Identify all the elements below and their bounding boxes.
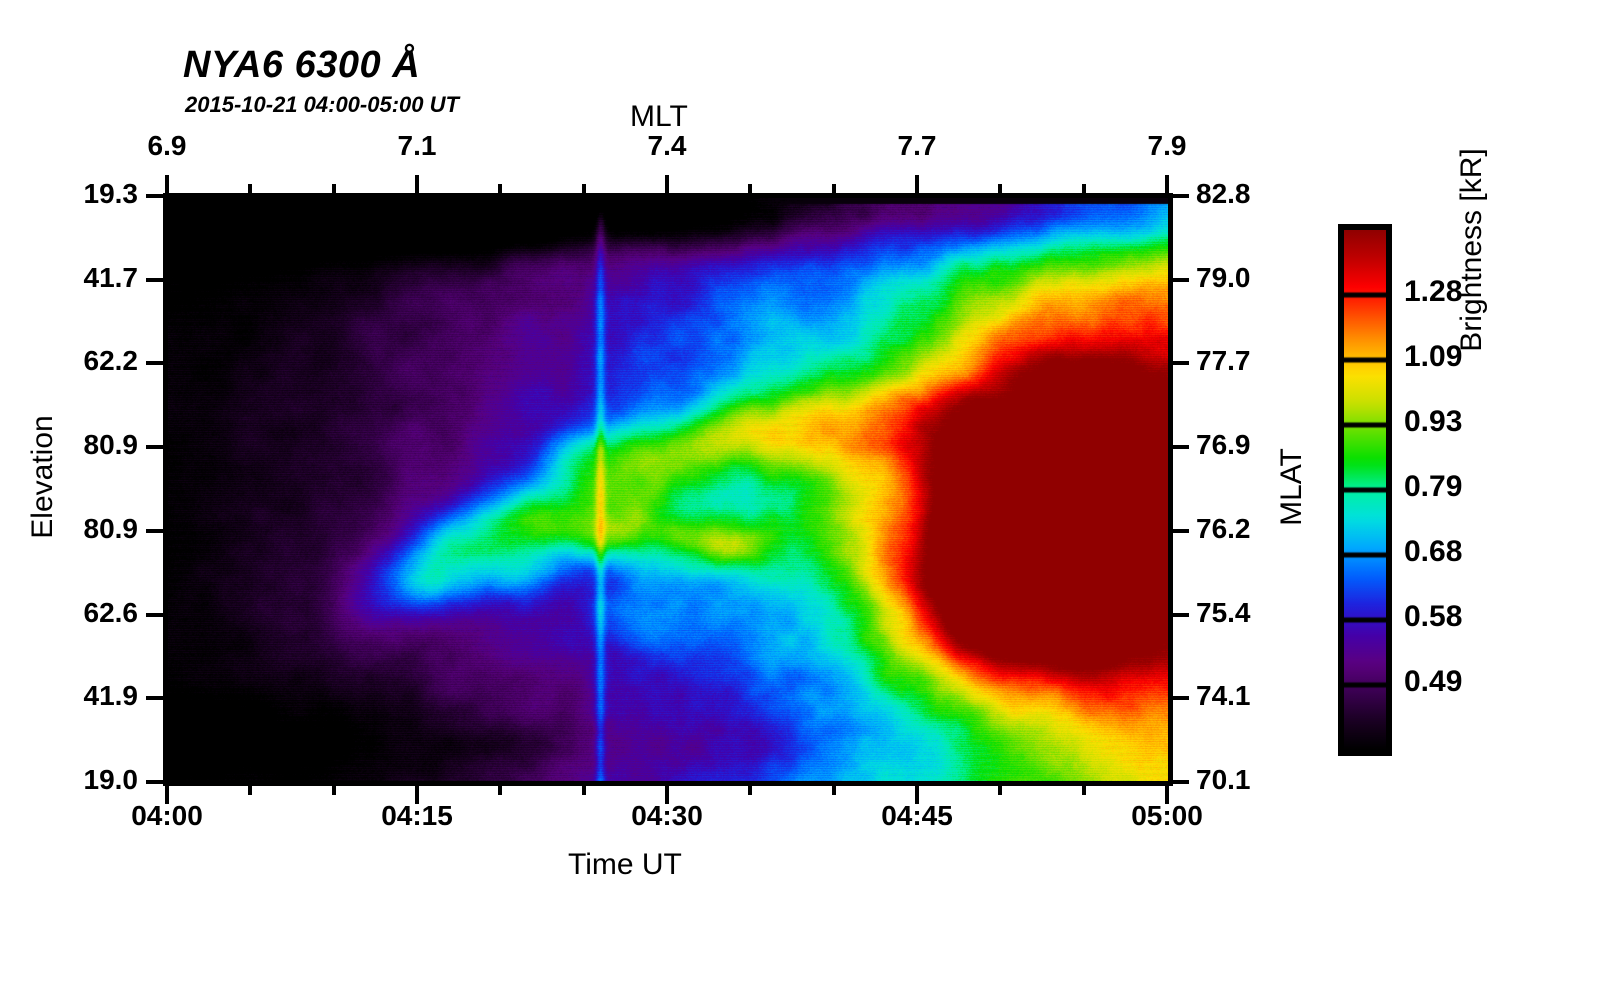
colorbar-ticklabel-4: 0.68 [1404,535,1462,569]
ticklabel-elevation-4: 80.9 [50,513,138,545]
ticklabel-mlat-4: 76.2 [1196,513,1286,545]
tick-top-minor-1-2 [582,184,586,195]
tick-right-5 [1169,613,1189,617]
x-axis-title-bottom: Time UT [568,848,682,882]
tick-bottom-minor-2-1 [748,784,752,795]
tick-left-6 [146,696,166,700]
ticklabel-elevation-1: 41.7 [50,262,138,294]
tick-bottom-minor-0-2 [332,784,336,795]
tick-top-minor-0-2 [332,184,336,195]
tick-left-7 [146,780,166,784]
ticklabel-mlt-1: 7.1 [357,130,477,162]
tick-bottom-minor-2-2 [832,784,836,795]
ticklabel-mlat-1: 79.0 [1196,262,1286,294]
colorbar-gradient [1344,230,1386,750]
tick-bottom-minor-1-2 [582,784,586,795]
ticklabel-mlt-3: 7.7 [857,130,977,162]
tick-top-4 [1165,175,1169,195]
tick-left-4 [146,529,166,533]
ticklabel-time-2: 04:30 [597,800,737,832]
colorbar-title: Brightness [kR] [1455,130,1489,370]
ticklabel-mlat-5: 75.4 [1196,597,1286,629]
tick-top-minor-0-1 [248,184,252,195]
ticklabel-mlat-6: 74.1 [1196,680,1286,712]
tick-top-minor-1-1 [498,184,502,195]
ticklabel-mlt-2: 7.4 [607,130,727,162]
colorbar-ticklabel-1: 1.09 [1404,340,1462,374]
keogram-image [167,196,1168,783]
tick-right-7 [1169,780,1189,784]
ticklabel-elevation-3: 80.9 [50,429,138,461]
tick-top-3 [915,175,919,195]
colorbar-ticklabel-2: 0.93 [1404,405,1462,439]
ticklabel-mlat-2: 77.7 [1196,345,1286,377]
colorbar [1338,224,1392,756]
x-axis-title-top: MLT [630,100,688,134]
tick-top-minor-3-1 [998,184,1002,195]
ticklabel-time-3: 04:45 [847,800,987,832]
y-axis-title-right: MLAT [1275,417,1309,557]
ticklabel-elevation-5: 62.6 [50,597,138,629]
ticklabel-time-0: 04:00 [97,800,237,832]
ticklabel-elevation-7: 19.0 [50,764,138,796]
ticklabel-mlt-0: 6.9 [107,130,227,162]
tick-top-minor-2-2 [832,184,836,195]
tick-right-2 [1169,361,1189,365]
tick-left-2 [146,361,166,365]
tick-left-1 [146,278,166,282]
tick-left-3 [146,445,166,449]
ticklabel-mlat-7: 70.1 [1196,764,1286,796]
tick-bottom-minor-0-1 [248,784,252,795]
keogram-plot-area [167,196,1168,783]
ticklabel-elevation-2: 62.2 [50,345,138,377]
page-subtitle: 2015-10-21 04:00-05:00 UT [185,92,459,118]
tick-right-1 [1169,278,1189,282]
tick-right-6 [1169,696,1189,700]
tick-bottom-minor-3-1 [998,784,1002,795]
tick-top-2 [665,175,669,195]
tick-top-minor-3-2 [1082,184,1086,195]
ticklabel-mlat-0: 82.8 [1196,178,1286,210]
ticklabel-time-4: 05:00 [1097,800,1237,832]
tick-right-3 [1169,445,1189,449]
ticklabel-mlt-4: 7.9 [1107,130,1227,162]
colorbar-ticklabel-0: 1.28 [1404,275,1462,309]
tick-right-0 [1169,194,1189,198]
ticklabel-mlat-3: 76.9 [1196,429,1286,461]
tick-top-minor-2-1 [748,184,752,195]
colorbar-ticklabel-5: 0.58 [1404,600,1462,634]
y-axis-title-left: Elevation [26,392,60,562]
tick-top-1 [415,175,419,195]
ticklabel-elevation-0: 19.3 [50,178,138,210]
colorbar-ticklabel-6: 0.49 [1404,665,1462,699]
tick-top-0 [165,175,169,195]
ticklabel-elevation-6: 41.9 [50,680,138,712]
ticklabel-time-1: 04:15 [347,800,487,832]
page-title: NYA6 6300 Å [183,44,420,87]
tick-left-0 [146,194,166,198]
tick-left-5 [146,613,166,617]
tick-right-4 [1169,529,1189,533]
tick-bottom-minor-1-1 [498,784,502,795]
colorbar-ticklabel-3: 0.79 [1404,470,1462,504]
tick-bottom-minor-3-2 [1082,784,1086,795]
